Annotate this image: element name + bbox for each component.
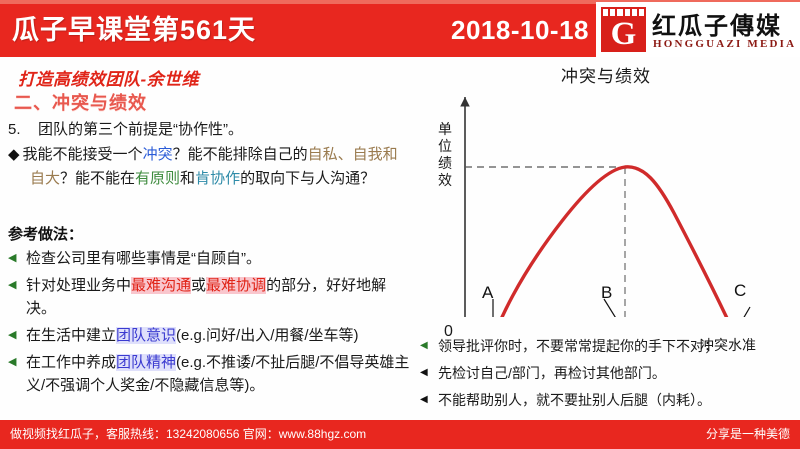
chart-arrow-b	[604, 299, 622, 317]
footer-slogan: 分享是一种美德	[706, 420, 790, 449]
lecture-subtitle: 打造高绩效团队-余世维	[18, 65, 199, 90]
chart-performance-curve	[488, 167, 752, 317]
list-item-label: 针对处理业务中最难沟通或最难协调的部分，好好地解决。	[26, 274, 410, 320]
header-date: 2018-10-18	[420, 8, 620, 52]
list-item: ◀ 先检讨自己/部门，再检讨其他部门。	[420, 362, 800, 384]
list-item-label: 检查公司里有哪些事情是“自顾自”。	[26, 247, 410, 270]
bullet-triangle-icon: ◀	[420, 362, 438, 384]
list-item-text-2: (e.g.问好/出入/用餐/坐车等)	[176, 327, 359, 344]
list-item-text-2: 或	[191, 277, 206, 294]
numbered-item-text: 团队的第三个前提是“协作性”。	[38, 121, 243, 138]
list-item: ◀ 领导批评你时，不要常常提起你的手下不对；	[420, 335, 800, 357]
highlight-principled: 有原则	[135, 170, 180, 187]
list-item-text-1: 在生活中建立	[26, 327, 116, 344]
section-heading: 二、冲突与绩效	[14, 89, 147, 115]
highlight-hardest-coordinate: 最难协调	[206, 277, 266, 294]
diamond-text-5: 的取向下与人沟通？	[240, 170, 375, 187]
bullet-triangle-icon: ◀	[8, 247, 26, 270]
footer-contact-text: 做视频找红瓜子，客服热线：13242080656 官网：www.88hgz.co…	[10, 420, 366, 449]
brand-name-cn: 红瓜子傳媒	[652, 6, 782, 41]
diamond-text-2: ？能不能排除自己的	[173, 146, 308, 163]
right-content-column: 冲突与绩效 单 位 绩 效 0 冲突水准 A B C	[412, 57, 800, 420]
list-item-text-1: 针对处理业务中	[26, 277, 131, 294]
list-item-label: 领导批评你时，不要常常提起你的手下不对；	[438, 335, 800, 357]
list-item: ◀ 针对处理业务中最难沟通或最难协调的部分，好好地解决。	[8, 274, 410, 320]
diamond-text-3: ？能不能在	[60, 170, 135, 187]
bullet-triangle-icon: ◀	[420, 335, 438, 357]
diamond-marker-icon: ◆	[8, 146, 20, 163]
list-item: ◀ 在工作中养成团队精神(e.g.不推诿/不扯后腿/不倡导英雄主义/不强调个人奖…	[8, 351, 410, 397]
slide-root: 瓜子早课堂第561天 2018-10-18 G 红瓜子傳媒 HONGGUAZI …	[0, 0, 800, 449]
reference-heading: 参考做法：	[8, 223, 83, 244]
list-item-label: 先检讨自己/部门，再检讨其他部门。	[438, 362, 800, 384]
right-bullet-list: ◀ 领导批评你时，不要常常提起你的手下不对； ◀ 先检讨自己/部门，再检讨其他部…	[420, 335, 800, 416]
diamond-paragraph: ◆我能不能接受一个冲突？能不能排除自己的自私、自我和自大？能不能在有原则和肯协作…	[8, 143, 406, 191]
logo-letter-g: G	[601, 16, 646, 52]
highlight-cooperative: 肯协作	[195, 170, 240, 187]
bullet-triangle-icon: ◀	[8, 274, 26, 297]
bullet-triangle-icon: ◀	[8, 351, 26, 374]
slide-footer: 做视频找红瓜子，客服热线：13242080656 官网：www.88hgz.co…	[0, 420, 800, 449]
page-title: 瓜子早课堂第561天	[12, 8, 256, 52]
bullet-triangle-icon: ◀	[420, 389, 438, 411]
list-item-label: 不能帮助别人，就不要扯别人后腿（内耗）。	[438, 389, 800, 411]
slide-header: 瓜子早课堂第561天 2018-10-18 G 红瓜子傳媒 HONGGUAZI …	[0, 0, 800, 57]
left-content-column: 打造高绩效团队-余世维 二、冲突与绩效 5.团队的第三个前提是“协作性”。 ◆我…	[0, 57, 412, 420]
chart-arrow-c	[736, 307, 750, 317]
list-item-label: 在生活中建立团队意识(e.g.问好/出入/用餐/坐车等)	[26, 324, 410, 347]
list-item: ◀ 不能帮助别人，就不要扯别人后腿（内耗）。	[420, 389, 800, 411]
list-item: ◀ 在生活中建立团队意识(e.g.问好/出入/用餐/坐车等)	[8, 324, 410, 347]
numbered-item: 5.团队的第三个前提是“协作性”。	[8, 119, 408, 141]
highlight-conflict: 冲突	[143, 146, 173, 163]
highlight-team-awareness: 团队意识	[116, 327, 176, 344]
left-bullet-list: ◀ 检查公司里有哪些事情是“自顾自”。 ◀ 针对处理业务中最难沟通或最难协调的部…	[8, 247, 410, 401]
diamond-text-1: 我能不能接受一个	[23, 146, 143, 163]
list-item-label: 在工作中养成团队精神(e.g.不推诿/不扯后腿/不倡导英雄主义/不强调个人奖金/…	[26, 351, 410, 397]
numbered-item-number: 5.	[8, 119, 38, 141]
highlight-team-spirit: 团队精神	[116, 354, 176, 371]
diamond-text-4: 和	[180, 170, 195, 187]
list-item-text-1: 在工作中养成	[26, 354, 116, 371]
list-item: ◀ 检查公司里有哪些事情是“自顾自”。	[8, 247, 410, 270]
brand-logo: G 红瓜子傳媒 HONGGUAZI MEDIA	[596, 2, 800, 57]
bullet-triangle-icon: ◀	[8, 324, 26, 347]
conflict-performance-chart: 单 位 绩 效 0 冲突水准 A B C	[412, 85, 800, 317]
chart-svg	[412, 85, 800, 317]
chart-title: 冲突与绩效	[412, 62, 800, 87]
highlight-hardest-communicate: 最难沟通	[131, 277, 191, 294]
brand-name-en: HONGGUAZI MEDIA	[653, 38, 796, 50]
